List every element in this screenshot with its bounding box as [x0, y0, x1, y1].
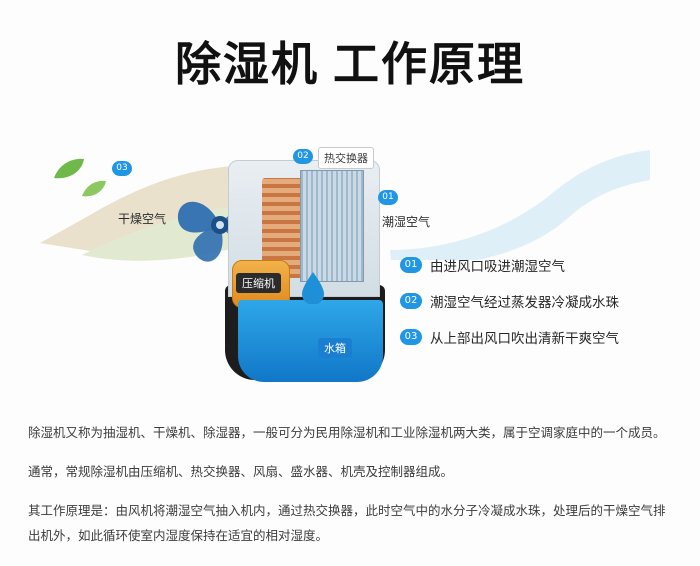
- heat-exchanger-fins: [300, 170, 364, 282]
- legend-badge-02: 02: [400, 293, 422, 309]
- legend-badge-03: 03: [400, 329, 422, 345]
- water-tank-label: 水箱: [318, 338, 352, 358]
- compressor-label: 压缩机: [236, 273, 281, 293]
- description-block: 除湿机又称为抽湿机、干燥机、除湿器，一般可分为民用除湿机和工业除湿机两大类，属于…: [28, 420, 676, 562]
- airflow-sweep-right: [380, 140, 660, 260]
- paragraph-1: 除湿机又称为抽湿机、干燥机、除湿器，一般可分为民用除湿机和工业除湿机两大类，属于…: [28, 420, 676, 445]
- paragraph-3: 其工作原理是：由风机将潮湿空气抽入机内，通过热交换器，此时空气中的水分子冷凝成水…: [28, 498, 676, 548]
- legend-item-1: 01 由进风口吸进潮湿空气: [400, 255, 700, 275]
- page-root: 除湿机工作原理: [0, 0, 700, 566]
- heat-exchanger-label-text: 热交换器: [324, 152, 368, 165]
- badge-01-diagram: 01: [378, 190, 398, 205]
- humid-air-label: 潮湿空气: [382, 213, 430, 230]
- heat-exchanger-label: 热交换器: [318, 147, 374, 169]
- water-drop-icon: [300, 270, 326, 304]
- page-title: 除湿机工作原理: [0, 28, 700, 94]
- legend-item-2: 02 潮湿空气经过蒸发器冷凝成水珠: [400, 291, 700, 311]
- badge-03-diagram: 03: [112, 161, 132, 176]
- title-part-1: 除湿机: [175, 37, 319, 91]
- legend-text-2: 潮湿空气经过蒸发器冷凝成水珠: [430, 291, 619, 311]
- leaf-icon-2: [80, 178, 108, 200]
- legend-text-1: 由进风口吸进潮湿空气: [430, 255, 565, 275]
- paragraph-2: 通常，常规除湿机由压缩机、热交换器、风扇、盛水器、机壳及控制器组成。: [28, 459, 676, 484]
- title-part-2: 工作原理: [333, 37, 525, 91]
- dry-air-label: 干燥空气: [118, 210, 166, 227]
- water-tank-body: [238, 300, 383, 382]
- badge-02-diagram: 02: [293, 149, 313, 164]
- legend-badge-01: 01: [400, 257, 422, 273]
- legend-text-3: 从上部出风口吹出清新干爽空气: [430, 327, 619, 347]
- legend-list: 01 由进风口吸进潮湿空气 02 潮湿空气经过蒸发器冷凝成水珠 03 从上部出风…: [400, 255, 700, 363]
- legend-item-3: 03 从上部出风口吹出清新干爽空气: [400, 327, 700, 347]
